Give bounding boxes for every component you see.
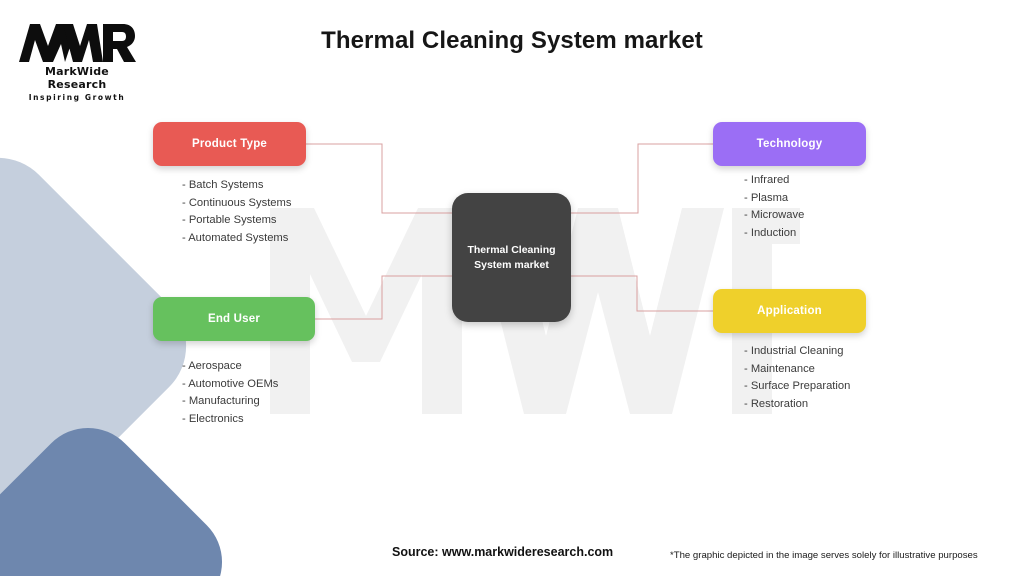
list-item: - Industrial Cleaning — [744, 343, 850, 361]
center-node-label-line1: Thermal Cleaning — [467, 244, 555, 256]
center-node[interactable]: Thermal Cleaning System market — [452, 193, 571, 322]
list-item: - Maintenance — [744, 361, 850, 379]
category-box-end-user[interactable]: End User — [153, 297, 315, 341]
category-label-end-user: End User — [208, 313, 260, 325]
list-item: - Automated Systems — [182, 230, 291, 248]
list-item: - Portable Systems — [182, 212, 291, 230]
category-items-technology: - Infrared - Plasma - Microwave - Induct… — [744, 172, 804, 242]
category-box-application[interactable]: Application — [713, 289, 866, 333]
list-item: - Batch Systems — [182, 177, 291, 195]
list-item: - Plasma — [744, 190, 804, 208]
list-item: - Induction — [744, 225, 804, 243]
category-label-technology: Technology — [757, 138, 823, 150]
infographic-canvas: MarkWide Research Inspiring Growth Therm… — [0, 0, 1024, 576]
list-item: - Surface Preparation — [744, 378, 850, 396]
list-item: - Automotive OEMs — [182, 376, 278, 394]
source-label: Source: www.markwideresearch.com — [392, 545, 613, 559]
center-node-label-line2: System market — [474, 259, 549, 271]
connector-end-user — [315, 276, 452, 319]
category-items-application: - Industrial Cleaning - Maintenance - Su… — [744, 343, 850, 413]
connector-product-type — [306, 144, 452, 213]
category-items-end-user: - Aerospace - Automotive OEMs - Manufact… — [182, 358, 278, 428]
list-item: - Infrared — [744, 172, 804, 190]
list-item: - Manufacturing — [182, 393, 278, 411]
list-item: - Continuous Systems — [182, 195, 291, 213]
category-box-product-type[interactable]: Product Type — [153, 122, 306, 166]
list-item: - Aerospace — [182, 358, 278, 376]
category-items-product-type: - Batch Systems - Continuous Systems - P… — [182, 177, 291, 247]
category-box-technology[interactable]: Technology — [713, 122, 866, 166]
category-label-product-type: Product Type — [192, 138, 267, 150]
list-item: - Microwave — [744, 207, 804, 225]
connector-technology — [571, 144, 713, 213]
category-label-application: Application — [757, 305, 822, 317]
connector-application — [571, 276, 713, 311]
list-item: - Electronics — [182, 411, 278, 429]
list-item: - Restoration — [744, 396, 850, 414]
disclaimer-note: *The graphic depicted in the image serve… — [670, 550, 978, 561]
